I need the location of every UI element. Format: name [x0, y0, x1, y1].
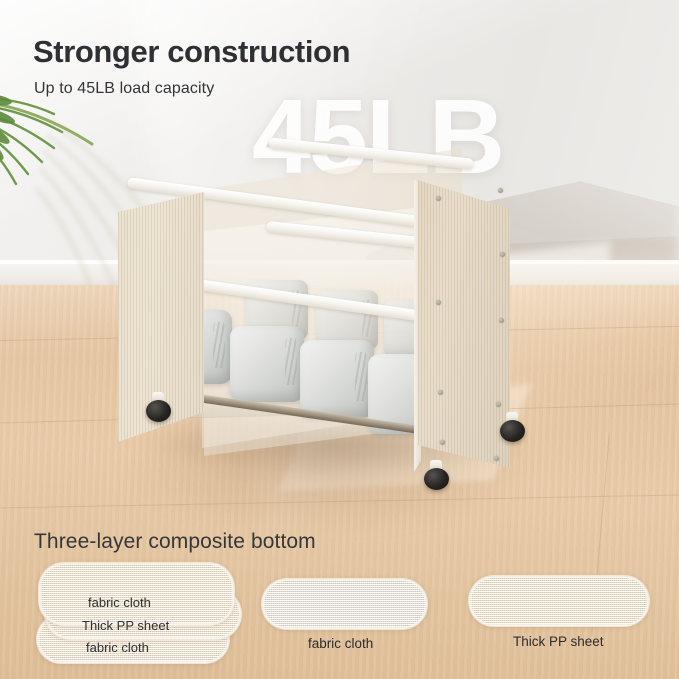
pad-sample-label-1: Thick PP sheet: [513, 634, 604, 649]
cart-right-panel: [418, 180, 510, 468]
panel-screw: [498, 188, 503, 193]
panel-screw: [494, 456, 499, 461]
panel-screw: [500, 252, 505, 257]
pad-stack-label-1: Thick PP sheet: [82, 618, 169, 633]
storage-cart-illustration: [118, 140, 548, 508]
product-infographic: 45LB: [0, 0, 679, 679]
pad-sample-label-0: fabric cloth: [308, 636, 373, 651]
panel-screw: [438, 390, 443, 395]
pad-stack-label-2: fabric cloth: [86, 640, 149, 655]
page-headline: Stronger construction: [33, 34, 350, 70]
panel-screw: [436, 196, 441, 201]
dumbbell-front: [230, 326, 304, 402]
pad-sample-fabric-cloth: [261, 578, 428, 630]
panel-screw: [499, 318, 504, 323]
pad-layer-top: [38, 562, 235, 626]
panel-screw: [436, 300, 441, 305]
caster-wheel: [500, 420, 525, 442]
panel-screw: [440, 440, 445, 445]
panel-screw: [496, 402, 501, 407]
pad-sample-thick-pp-sheet: [468, 575, 650, 627]
bottom-section-title: Three-layer composite bottom: [34, 530, 316, 554]
pad-stack-label-0: fabric cloth: [88, 595, 151, 610]
caster-wheel: [146, 400, 171, 422]
dumbbell-front: [300, 340, 374, 418]
page-subheadline: Up to 45LB load capacity: [34, 80, 214, 98]
caster-wheel: [424, 468, 449, 490]
right-panel-grain: [418, 180, 510, 468]
